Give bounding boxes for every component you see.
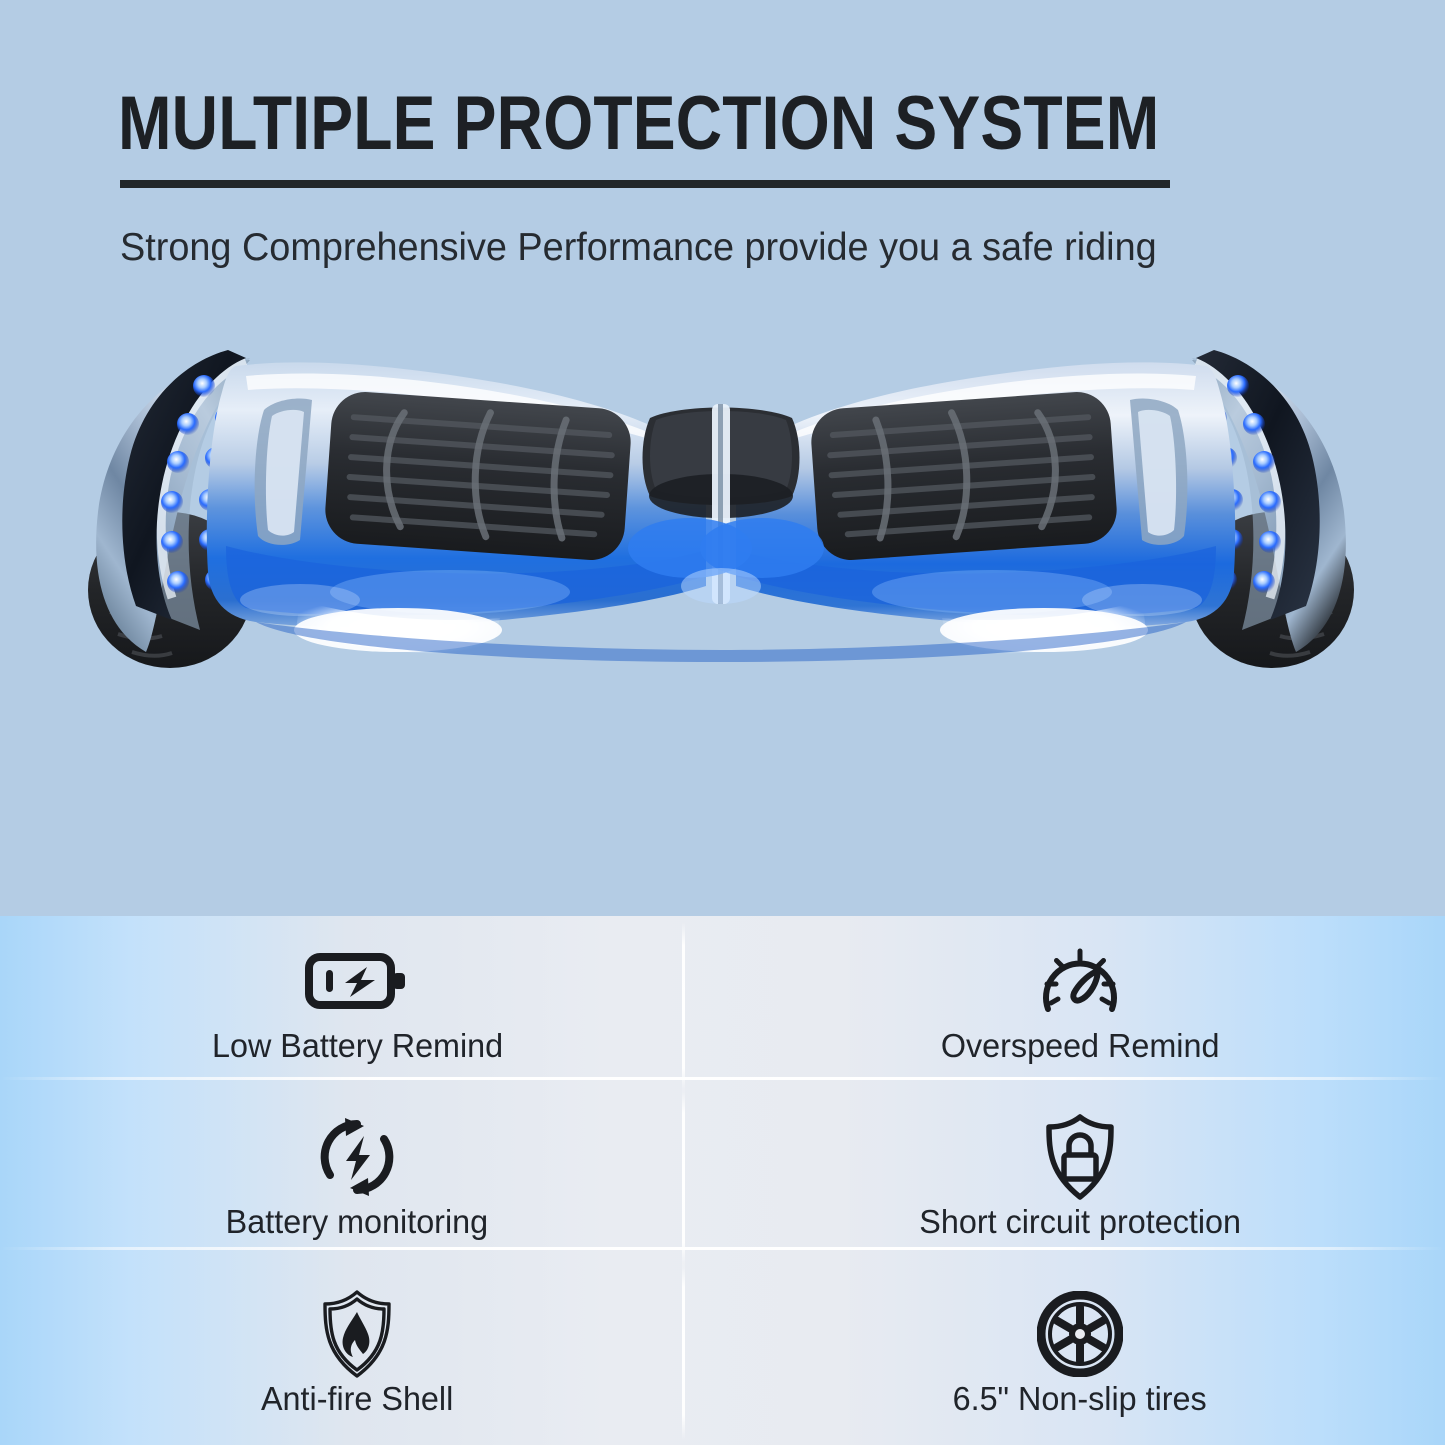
product-image-hoverboard	[50, 300, 1390, 720]
feature-label: Anti-fire Shell	[261, 1379, 453, 1419]
speedometer-icon	[1039, 942, 1121, 1020]
shield-flame-icon	[319, 1295, 395, 1373]
hero-panel: MULTIPLE PROTECTION SYSTEM Strong Compre…	[0, 0, 1445, 916]
battery-cycle-bolt-icon	[315, 1118, 399, 1196]
product-infographic: MULTIPLE PROTECTION SYSTEM Strong Compre…	[0, 0, 1445, 1445]
feature-label: Short circuit protection	[919, 1202, 1241, 1242]
shield-lock-icon	[1042, 1118, 1118, 1196]
battery-bolt-icon	[305, 942, 409, 1020]
feature-cell-battery-monitoring[interactable]: Battery monitoring	[0, 1092, 723, 1268]
page-title: MULTIPLE PROTECTION SYSTEM	[118, 82, 1159, 166]
feature-label: 6.5" Non-slip tires	[953, 1379, 1207, 1419]
page-subtitle: Strong Comprehensive Performance provide…	[120, 222, 1157, 274]
feature-cell-overspeed[interactable]: Overspeed Remind	[723, 916, 1445, 1092]
feature-label: Low Battery Remind	[212, 1026, 503, 1066]
feature-label: Battery monitoring	[226, 1202, 488, 1242]
deck-left	[207, 362, 706, 653]
feature-cell-low-battery[interactable]: Low Battery Remind	[0, 916, 723, 1092]
features-panel: Low Battery Remind	[0, 916, 1445, 1445]
feature-label: Overspeed Remind	[940, 1026, 1219, 1066]
feature-cell-anti-fire[interactable]: Anti-fire Shell	[0, 1269, 723, 1445]
wheel-icon	[1037, 1295, 1123, 1373]
deck-right	[736, 362, 1235, 653]
feature-cell-tires[interactable]: 6.5" Non-slip tires	[723, 1269, 1445, 1445]
feature-grid: Low Battery Remind	[0, 916, 1445, 1445]
title-underline-rule	[120, 180, 1170, 188]
feature-cell-short-circuit[interactable]: Short circuit protection	[723, 1092, 1445, 1268]
